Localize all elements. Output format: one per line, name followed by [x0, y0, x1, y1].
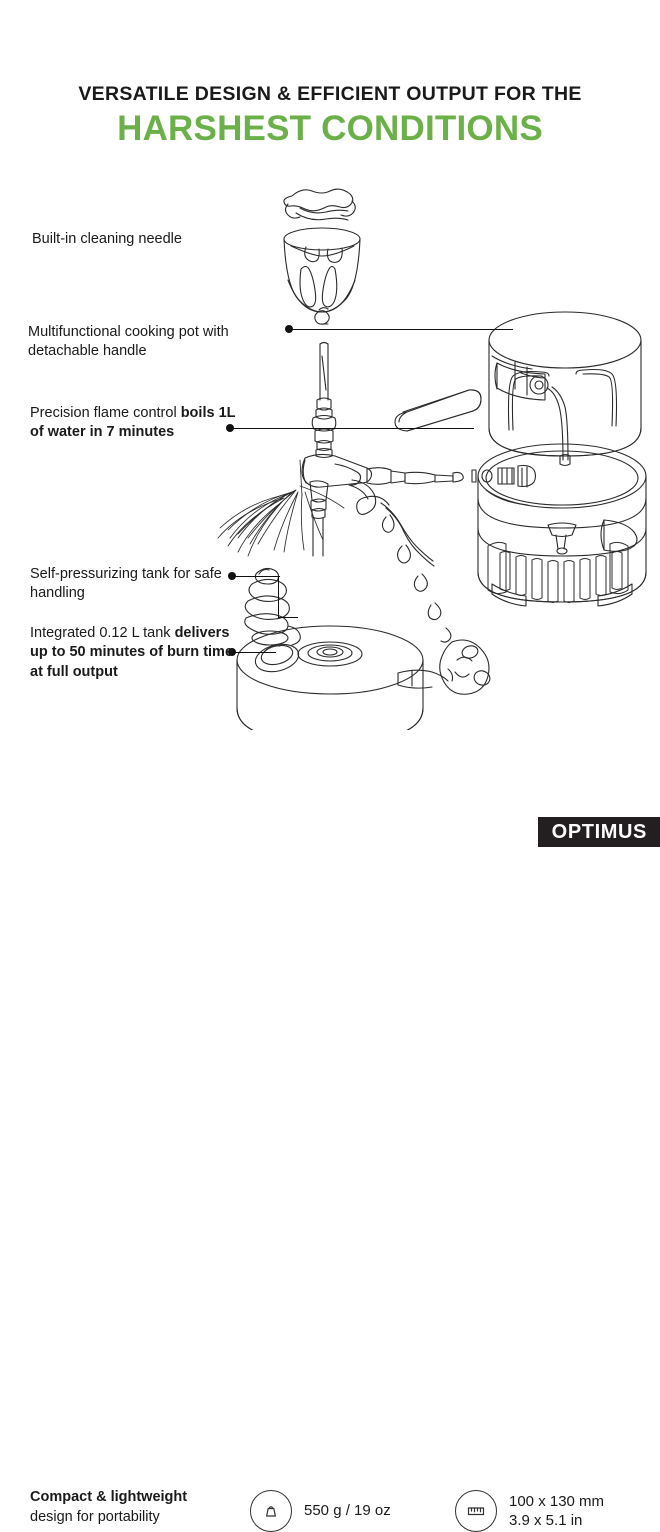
callout-cooking-pot: Multifunctional cooking pot with detacha… [28, 323, 278, 362]
callout-text: Precision flame control [30, 405, 177, 421]
spec-compact-design: Compact & lightweight design for portabi… [30, 1488, 187, 1527]
callout-cleaning-needle: Built-in cleaning needle [32, 230, 182, 249]
spec-compact-regular: design for portability [30, 1508, 187, 1528]
spec-dimensions-metric: 100 x 130 mm [509, 1493, 604, 1510]
leader-segment [233, 428, 474, 429]
leader-line-pot [285, 325, 513, 335]
page-title: VERSATILE DESIGN & EFFICIENT OUTPUT FOR … [0, 84, 660, 150]
infographic-page: VERSATILE DESIGN & EFFICIENT OUTPUT FOR … [0, 0, 660, 900]
weight-icon [250, 1490, 292, 1532]
callout-integrated-tank: Integrated 0.12 L tank delivers up to 50… [30, 624, 245, 682]
fuel-line-part [349, 480, 451, 642]
burner-flame-brush-part [218, 460, 344, 556]
cleaning-needle-cap-part [284, 189, 355, 220]
spec-weight: 550 g / 19 oz [250, 1490, 391, 1532]
burner-jet-part [315, 308, 329, 324]
leader-segment [278, 576, 279, 618]
callout-text: Built-in cleaning needle [32, 231, 182, 247]
spec-row: Compact & lightweight design for portabi… [0, 742, 660, 802]
burner-stem-part [317, 343, 331, 411]
spec-compact-bold: Compact & lightweight [30, 1488, 187, 1508]
callout-text: Multifunctional cooking pot with detacha… [28, 324, 229, 359]
callout-flame-control: Precision flame control boils 1L of wate… [30, 404, 245, 443]
spec-dimensions-value: 100 x 130 mm 3.9 x 5.1 in [509, 1492, 604, 1531]
brand-logo-text: OPTIMUS [552, 821, 647, 844]
callout-self-pressurizing-tank: Self-pressurizing tank for safe handling [30, 565, 245, 604]
callout-text: Integrated 0.12 L tank [30, 625, 171, 641]
callout-text: Self-pressurizing tank for safe handling [30, 566, 222, 601]
brand-logo: OPTIMUS [538, 817, 660, 847]
ruler-icon [455, 1490, 497, 1532]
spec-dimensions: 100 x 130 mm 3.9 x 5.1 in [455, 1490, 604, 1532]
burner-cup-part [284, 228, 360, 312]
spec-dimensions-imperial: 3.9 x 5.1 in [509, 1512, 582, 1529]
headline-line-1: VERSATILE DESIGN & EFFICIENT OUTPUT FOR … [0, 84, 660, 105]
fuel-tank-part [237, 626, 423, 730]
leader-line-flame [226, 424, 474, 434]
leader-segment [292, 329, 513, 330]
leader-segment [278, 617, 298, 618]
headline-line-2: HARSHEST CONDITIONS [0, 109, 660, 149]
multi-tool-part [398, 640, 492, 694]
spec-weight-value: 550 g / 19 oz [304, 1501, 391, 1521]
